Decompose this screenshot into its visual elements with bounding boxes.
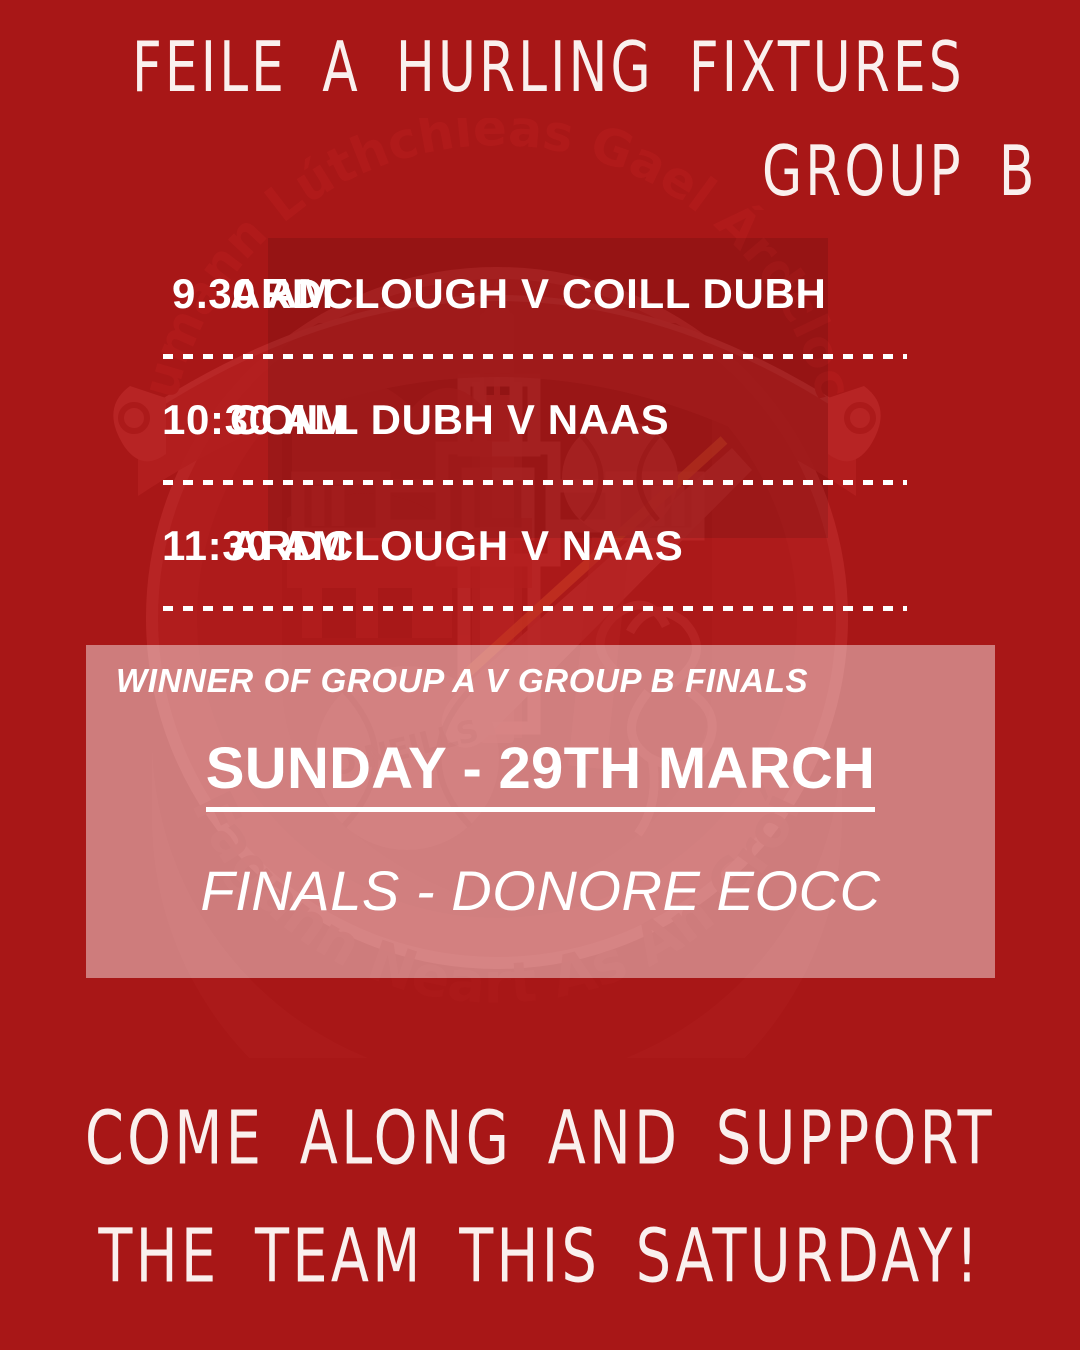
fixtures-list: 9.30 AM ARDCLOUGH V COILL DUBH 10:30 AM … [0, 262, 1080, 640]
finals-panel: WINNER OF GROUP A V GROUP B FINALS SUNDA… [86, 645, 995, 978]
finals-date-text: SUNDAY - 29TH MARCH [206, 736, 875, 812]
cta-line-1: COME ALONG AND SUPPORT [85, 1094, 995, 1181]
fixture-time: 10:30 AM [0, 396, 230, 444]
fixture-row: 10:30 AM COILL DUBH V NAAS [0, 388, 1080, 452]
fixture-row: 11:30 AM ARDCLOUGH V NAAS [0, 514, 1080, 578]
fixture-divider [0, 326, 1080, 388]
poster-canvas: O'NEILLS [0, 0, 1080, 1350]
page-title-line-2: GROUP B [762, 131, 1038, 212]
cta-line-2: THE TEAM THIS SATURDAY! [99, 1212, 982, 1299]
fixture-match: ARDCLOUGH V NAAS [230, 522, 683, 570]
finals-subtitle: WINNER OF GROUP A V GROUP B FINALS [116, 662, 808, 700]
fixture-divider [0, 578, 1080, 640]
finals-date: SUNDAY - 29TH MARCH [86, 735, 995, 802]
page-title-line-1: FEILE A HURLING FIXTURES [132, 27, 965, 108]
fixture-time: 11:30 AM [0, 522, 230, 570]
cta-line-2-wrap: THE TEAM THIS SATURDAY! [0, 1222, 1080, 1290]
finals-venue: FINALS - DONORE EOCC [86, 858, 995, 923]
fixture-divider [0, 452, 1080, 514]
cta-line-1-wrap: COME ALONG AND SUPPORT [0, 1104, 1080, 1172]
fixture-time: 9.30 AM [0, 270, 230, 318]
fixture-match: COILL DUBH V NAAS [230, 396, 669, 444]
fixture-match: ARDCLOUGH V COILL DUBH [230, 270, 826, 318]
fixture-row: 9.30 AM ARDCLOUGH V COILL DUBH [0, 262, 1080, 326]
